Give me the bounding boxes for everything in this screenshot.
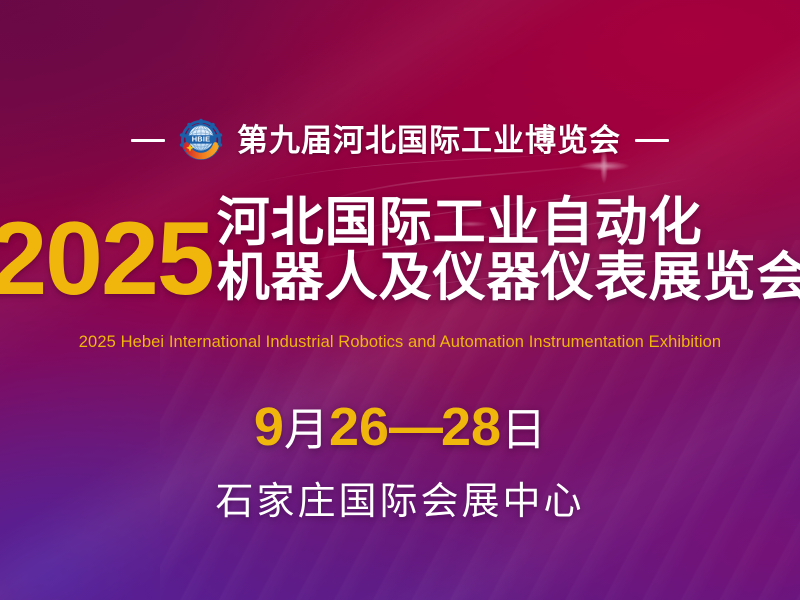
header-rule-left-icon <box>131 139 165 142</box>
date-month-unit: 月 <box>284 405 329 455</box>
exhibition-poster: HBIE 第九届河北国际工业博览会 2025 河北国际工业自动化 机器人及仪器仪… <box>0 0 800 600</box>
headline-block: 2025 河北国际工业自动化 机器人及仪器仪表展览会 <box>0 196 800 336</box>
date-day-start: 26 <box>329 397 389 457</box>
header-rule-right-icon <box>635 139 669 142</box>
event-venue: 石家庄国际会展中心 <box>0 470 800 525</box>
date-day-end: 28 <box>441 397 501 457</box>
headline-text-lines: 河北国际工业自动化 机器人及仪器仪表展览会 <box>217 196 800 305</box>
date-month-number: 9 <box>254 397 284 457</box>
svg-text:HBIE: HBIE <box>192 135 210 144</box>
headline-year: 2025 <box>0 210 213 310</box>
poster-header: HBIE 第九届河北国际工业博览会 <box>0 116 800 164</box>
headline-line-1: 河北国际工业自动化 <box>217 196 800 251</box>
hbie-logo-icon: HBIE <box>179 118 223 162</box>
date-day-unit: 日 <box>501 405 546 455</box>
english-subtitle: 2025 Hebei International Industrial Robo… <box>0 333 800 352</box>
event-date: 9月26—28日 <box>0 398 800 457</box>
headline-line-2: 机器人及仪器仪表展览会 <box>217 251 800 306</box>
header-title: 第九届河北国际工业博览会 <box>237 125 621 156</box>
date-range-dash: — <box>389 397 441 457</box>
